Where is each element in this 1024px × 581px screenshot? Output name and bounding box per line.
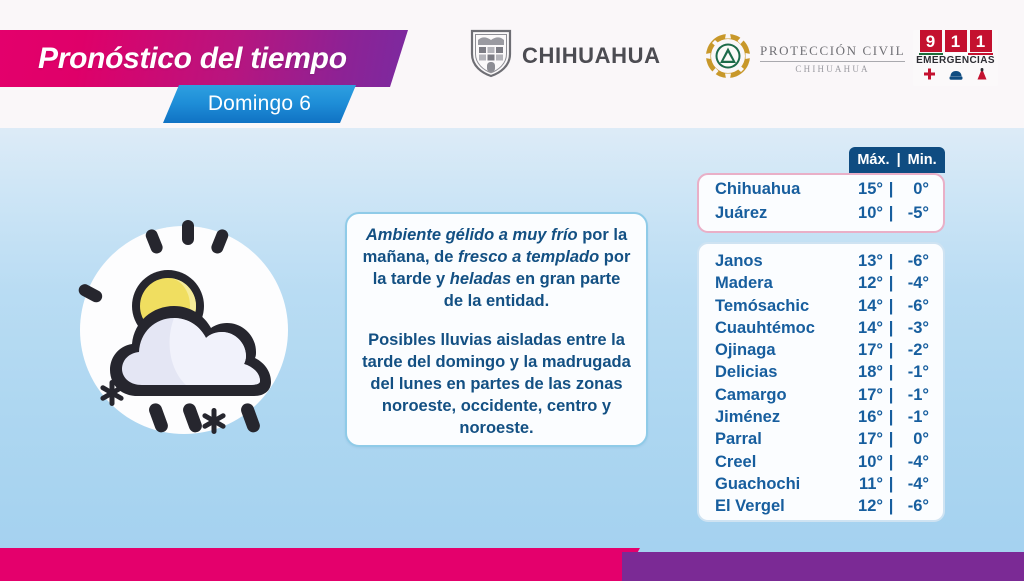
digit-1-second: 1 [970, 30, 992, 52]
city-temps: 17°|-1° [849, 386, 929, 405]
temp-separator: | [883, 319, 899, 338]
forecast-paragraph-2: Posibles lluvias aisladas entre la tarde… [361, 329, 632, 439]
chihuahua-wordmark: CHIHUAHUA [522, 43, 661, 69]
temp-max: 15° [849, 180, 883, 199]
city-temps: 18°|-1° [849, 363, 929, 382]
city-name: Madera [715, 274, 849, 293]
table-row: Guachochi11°|-4° [715, 475, 929, 497]
temp-min: -1° [899, 363, 929, 382]
city-temps: 12°|-6° [849, 497, 929, 516]
other-cities-box: Janos13°|-6°Madera12°|-4°Temósachic14°|-… [697, 242, 945, 522]
temp-min: -6° [899, 297, 929, 316]
table-row: Madera12°|-4° [715, 274, 929, 296]
city-name: Camargo [715, 386, 849, 405]
proteccion-civil-emblem-icon [705, 33, 751, 84]
table-row: Jiménez16°|-1° [715, 408, 929, 430]
pc-title: PROTECCIÓN CIVIL [760, 43, 905, 59]
sun-cloud-rain-snow-icon [66, 218, 302, 442]
table-row: El Vergel12°|-6° [715, 497, 929, 519]
temp-max: 18° [849, 363, 883, 382]
table-row: Delicias18°|-1° [715, 363, 929, 385]
city-name: Ojinaga [715, 341, 849, 360]
emphasis-text: heladas [450, 270, 511, 288]
temp-max: 17° [849, 386, 883, 405]
city-temps: 16°|-1° [849, 408, 929, 427]
table-row: Janos13°|-6° [715, 252, 929, 274]
temp-min: -1° [899, 386, 929, 405]
table-row: Creel10°|-4° [715, 453, 929, 475]
temp-min: -1° [899, 408, 929, 427]
forecast-paragraph-1: Ambiente gélido a muy frío por la mañana… [361, 224, 632, 312]
pc-subtitle: CHIHUAHUA [795, 64, 869, 74]
temp-max: 14° [849, 297, 883, 316]
table-row: Chihuahua 15° | 0° [715, 180, 929, 204]
table-row: Cuauhtémoc14°|-3° [715, 319, 929, 341]
temp-separator: | [883, 475, 899, 494]
temp-separator: | [883, 341, 899, 360]
proteccion-civil-logo: PROTECCIÓN CIVIL CHIHUAHUA [705, 33, 905, 84]
primary-cities-box: Chihuahua 15° | 0° Juárez 10° | -5° [697, 173, 945, 233]
temp-separator: | [883, 386, 899, 405]
city-name: Temósachic [715, 297, 849, 316]
temp-max: 10° [849, 204, 883, 223]
table-row: Ojinaga17°|-2° [715, 341, 929, 363]
header-max-label: Máx. [857, 152, 889, 168]
temp-max: 12° [849, 497, 883, 516]
temp-min: -4° [899, 453, 929, 472]
top-white-strip [0, 0, 1024, 24]
city-name: Creel [715, 453, 849, 472]
table-row: Juárez 10° | -5° [715, 204, 929, 228]
emergencias-label: EMERGENCIAS [916, 55, 995, 67]
temp-separator: | [883, 408, 899, 427]
city-temps: 13°|-6° [849, 252, 929, 271]
city-temps: 14°|-6° [849, 297, 929, 316]
table-row: Parral17°|0° [715, 430, 929, 452]
forecast-text-box: Ambiente gélido a muy frío por la mañana… [345, 212, 648, 447]
fire-icon [976, 68, 988, 86]
title-band: Pronóstico del tiempo [0, 30, 408, 87]
city-name: Jiménez [715, 408, 849, 427]
temp-max: 11° [849, 475, 883, 494]
emphasis-text: Ambiente gélido a muy frío [366, 226, 578, 244]
header-min-label: Min. [908, 152, 937, 168]
temp-min: 0° [899, 430, 929, 449]
city-temps: 17°|0° [849, 430, 929, 449]
temp-max: 16° [849, 408, 883, 427]
bottom-bar-purple [622, 552, 1024, 581]
temp-max: 13° [849, 252, 883, 271]
city-name: El Vergel [715, 497, 849, 516]
temp-min: -4° [899, 274, 929, 293]
temp-max: 14° [849, 319, 883, 338]
day-tab: Domingo 6 [163, 85, 356, 123]
city-temps: 17°|-2° [849, 341, 929, 360]
temp-separator: | [883, 274, 899, 293]
emergency-911-logo: 9 1 1 EMERGENCIAS [913, 30, 998, 86]
temp-max: 10° [849, 453, 883, 472]
page-title: Pronóstico del tiempo [38, 42, 347, 76]
temp-min: -6° [899, 252, 929, 271]
city-name: Delicias [715, 363, 849, 382]
temp-min: -4° [899, 475, 929, 494]
max-min-header-tab: Máx. | Min. [849, 147, 945, 173]
day-label: Domingo 6 [208, 92, 311, 116]
header-separator: | [890, 152, 908, 168]
temp-max: 17° [849, 430, 883, 449]
medical-cross-icon [923, 68, 936, 86]
temp-min: 0° [899, 180, 929, 199]
city-temps: 11°|-4° [849, 475, 929, 494]
temp-max: 17° [849, 341, 883, 360]
emphasis-text: fresco a templado [458, 248, 599, 266]
temp-min: -5° [899, 204, 929, 223]
temp-separator: | [883, 453, 899, 472]
temp-separator: | [883, 180, 899, 199]
temp-separator: | [883, 430, 899, 449]
police-cap-icon [949, 68, 963, 86]
temp-min: -2° [899, 341, 929, 360]
temp-max: 12° [849, 274, 883, 293]
city-name: Cuauhtémoc [715, 319, 849, 338]
city-temps: 14°|-3° [849, 319, 929, 338]
city-temps: 12°|-4° [849, 274, 929, 293]
table-row: Camargo17°|-1° [715, 386, 929, 408]
temp-separator: | [883, 363, 899, 382]
pc-divider [760, 61, 905, 62]
chihuahua-logo: CHIHUAHUA [470, 28, 661, 83]
city-temps: 15° | 0° [849, 180, 929, 199]
temp-separator: | [883, 252, 899, 271]
temp-separator: | [883, 204, 899, 223]
temp-separator: | [883, 297, 899, 316]
temp-min: -6° [899, 497, 929, 516]
weather-forecast-graphic: Pronóstico del tiempo Domingo 6 [0, 0, 1024, 581]
city-name: Juárez [715, 204, 849, 223]
bottom-bar-magenta [0, 548, 640, 581]
temp-separator: | [883, 497, 899, 516]
temp-min: -3° [899, 319, 929, 338]
digit-9: 9 [920, 30, 942, 52]
city-temps: 10° | -5° [849, 204, 929, 223]
digit-1-first: 1 [945, 30, 967, 52]
city-name: Janos [715, 252, 849, 271]
city-name: Parral [715, 430, 849, 449]
table-row: Temósachic14°|-6° [715, 297, 929, 319]
911-digits: 9 1 1 [920, 30, 992, 52]
chihuahua-shield-icon [470, 28, 512, 83]
city-name: Guachochi [715, 475, 849, 494]
city-temps: 10°|-4° [849, 453, 929, 472]
city-name: Chihuahua [715, 180, 849, 199]
emergency-service-icons [923, 68, 988, 86]
